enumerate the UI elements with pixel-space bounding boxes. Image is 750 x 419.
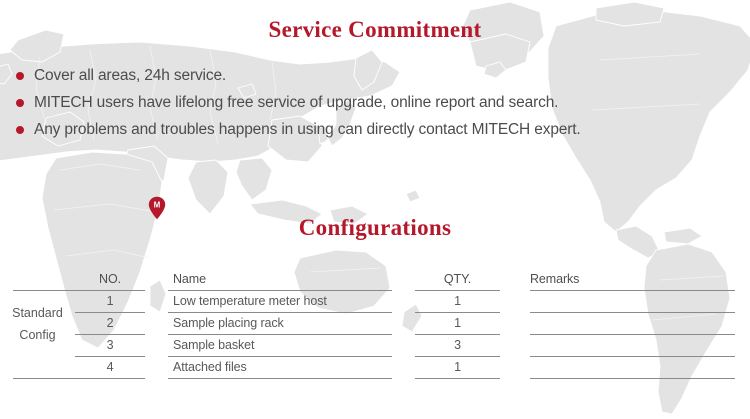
table-group-label: Standard Config	[0, 302, 75, 346]
table-header-name: Name	[168, 268, 392, 290]
table-cell-qty: 1	[415, 356, 500, 378]
table-cell-name: Sample basket	[168, 334, 392, 356]
table-group-label-line1: Standard	[0, 302, 75, 324]
page-title-service-commitment: Service Commitment	[0, 17, 750, 43]
page-root: Service Commitment Cover all areas, 24h …	[0, 0, 750, 419]
table-cell-qty: 1	[415, 290, 500, 312]
table-column-name: Name Low temperature meter host Sample p…	[168, 268, 392, 378]
table-rule-name-2	[168, 334, 392, 335]
table-cell-no: 1	[75, 290, 145, 312]
page-title-configurations: Configurations	[0, 215, 750, 241]
table-cell-no: 2	[75, 312, 145, 334]
table-rule-qty-1	[415, 312, 500, 313]
table-header-qty: QTY.	[415, 268, 500, 290]
table-rule-no-bottom	[13, 378, 145, 379]
table-rule-remarks-1	[530, 312, 735, 313]
table-header-no: NO.	[75, 268, 145, 290]
table-cell-no: 3	[75, 334, 145, 356]
table-rule-no-2	[75, 334, 145, 335]
table-cell-qty: 3	[415, 334, 500, 356]
table-header-remarks: Remarks	[530, 268, 735, 290]
table-rule-remarks-2	[530, 334, 735, 335]
table-rule-qty-3	[415, 356, 500, 357]
list-item: Cover all areas, 24h service.	[14, 62, 740, 89]
table-group-label-line2: Config	[0, 324, 75, 346]
table-rule-qty-2	[415, 334, 500, 335]
table-rule-remarks-3	[530, 356, 735, 357]
table-rule-name-top	[168, 290, 392, 291]
map-location-pin-icon: M	[148, 196, 166, 220]
table-cell-remarks	[530, 356, 735, 378]
table-column-qty: QTY. 1 1 3 1	[415, 268, 500, 378]
bullet-dot-icon	[16, 99, 24, 107]
list-item-label: Any problems and troubles happens in usi…	[34, 121, 581, 139]
bullet-dot-icon	[16, 126, 24, 134]
map-pin-label: M	[154, 201, 161, 210]
table-cell-qty: 1	[415, 312, 500, 334]
table-rule-no-1	[75, 312, 145, 313]
list-item-label: Cover all areas, 24h service.	[34, 67, 226, 85]
table-rule-name-3	[168, 356, 392, 357]
table-rule-qty-top	[415, 290, 500, 291]
table-rule-remarks-bottom	[530, 378, 735, 379]
list-item: Any problems and troubles happens in usi…	[14, 116, 740, 143]
service-commitment-list: Cover all areas, 24h service. MITECH use…	[14, 62, 740, 143]
table-rule-no-top	[13, 290, 145, 291]
configurations-table: Standard Config NO. 1 2 3 4 Name Low t	[0, 268, 750, 393]
list-item: MITECH users have lifelong free service …	[14, 89, 740, 116]
table-cell-remarks	[530, 334, 735, 356]
table-cell-no: 4	[75, 356, 145, 378]
table-rule-name-1	[168, 312, 392, 313]
table-cell-name: Attached files	[168, 356, 392, 378]
table-rule-name-bottom	[168, 378, 392, 379]
table-column-remarks: Remarks	[530, 268, 735, 378]
bullet-dot-icon	[16, 72, 24, 80]
table-cell-remarks	[530, 312, 735, 334]
table-rule-qty-bottom	[415, 378, 500, 379]
table-column-no: NO. 1 2 3 4	[75, 268, 145, 378]
table-cell-name: Low temperature meter host	[168, 290, 392, 312]
table-cell-remarks	[530, 290, 735, 312]
table-rule-remarks-top	[530, 290, 735, 291]
list-item-label: MITECH users have lifelong free service …	[34, 94, 558, 112]
table-rule-no-3	[75, 356, 145, 357]
page-content: Service Commitment Cover all areas, 24h …	[0, 0, 750, 419]
table-cell-name: Sample placing rack	[168, 312, 392, 334]
